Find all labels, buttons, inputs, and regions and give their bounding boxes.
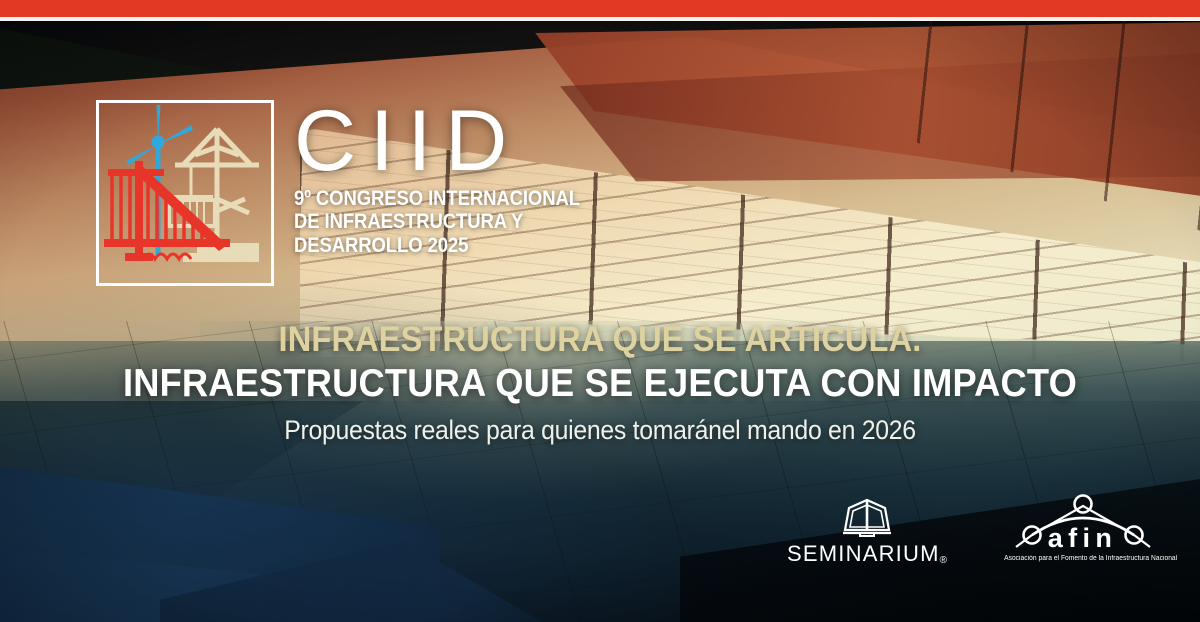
- ciid-infrastructure-mark: [96, 100, 274, 286]
- congress-title: 9º CONGRESO INTERNACIONAL DE INFRAESTRUC…: [294, 187, 580, 257]
- congress-line-1: 9º CONGRESO INTERNACIONAL: [294, 187, 580, 210]
- congress-line-2: DE INFRAESTRUCTURA Y: [294, 210, 580, 233]
- ciid-logo-lockup: CIID 9º CONGRESO INTERNACIONAL DE INFRAE…: [96, 100, 626, 286]
- sponsor-afin: afin Asociación para el Fomento de la In…: [1000, 487, 1165, 562]
- headline-subtitle: Propuestas reales para quienes tomaránel…: [48, 416, 1152, 446]
- congress-line-3: DESARROLLO 2025: [294, 234, 580, 257]
- suspension-bridge-icon: [104, 161, 230, 261]
- registered-mark: ®: [940, 555, 947, 566]
- sponsor-seminarium: SEMINARIUM®: [777, 496, 957, 567]
- crane-base-lower: [183, 253, 259, 262]
- seminarium-name: SEMINARIUM: [787, 541, 940, 566]
- headline-line-1: INFRAESTRUCTURA QUE SE ARTICULA.: [42, 322, 1158, 358]
- event-banner: CIID 9º CONGRESO INTERNACIONAL DE INFRAE…: [0, 0, 1200, 622]
- ciid-acronym: CIID: [294, 102, 626, 181]
- headline-block: INFRAESTRUCTURA QUE SE ARTICULA. INFRAES…: [0, 322, 1200, 446]
- ciid-wordmark-block: CIID 9º CONGRESO INTERNACIONAL DE INFRAE…: [294, 100, 626, 257]
- open-book-icon: [777, 496, 957, 538]
- afin-tagline: Asociación para el Fomento de la Infraes…: [1004, 555, 1161, 562]
- infrastructure-icon: [99, 103, 271, 283]
- headline-line-2: INFRAESTRUCTURA QUE SE EJECUTA CON IMPAC…: [42, 364, 1158, 404]
- seminarium-wordmark: SEMINARIUM®: [777, 541, 957, 567]
- top-accent-bar: [0, 0, 1200, 17]
